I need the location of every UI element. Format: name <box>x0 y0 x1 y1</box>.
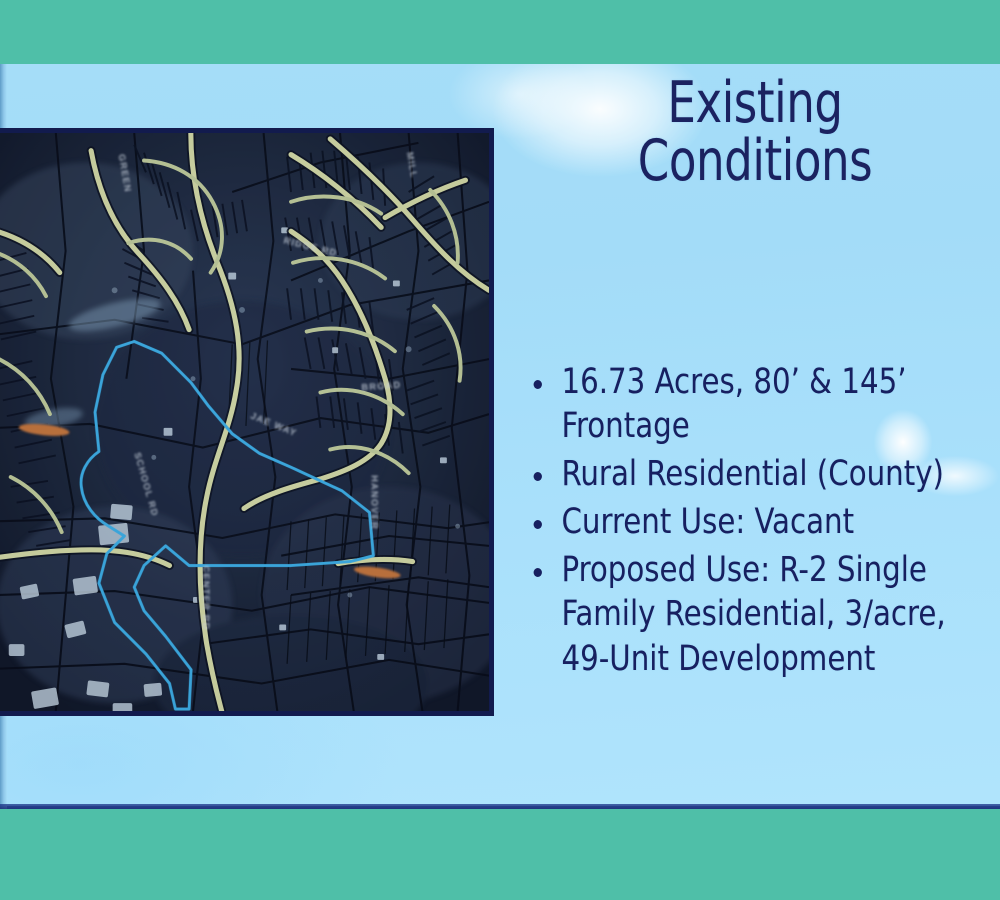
list-item: Rural Residential (County) <box>528 452 958 496</box>
presentation-slide: RIDGE RD BROAD JAE WAY SCHOOL RD CENTER … <box>0 64 1000 809</box>
photographed-slide-frame: RIDGE RD BROAD JAE WAY SCHOOL RD CENTER … <box>0 0 1000 900</box>
bullet-dot-icon <box>534 520 542 529</box>
aerial-map-image: RIDGE RD BROAD JAE WAY SCHOOL RD CENTER … <box>0 128 494 716</box>
slide-bottom-edge <box>0 804 1000 809</box>
bullet-dot-icon <box>534 380 542 389</box>
map-graphics: RIDGE RD BROAD JAE WAY SCHOOL RD CENTER … <box>0 133 489 711</box>
list-item: Proposed Use: R-2 Single Family Resident… <box>528 548 958 680</box>
title-line-1: Existing <box>548 74 962 132</box>
list-item: 16.73 Acres, 80’ & 145’ Frontage <box>528 360 958 448</box>
list-item-label: Rural Residential (County) <box>561 452 957 496</box>
list-item-label: Proposed Use: R-2 Single Family Resident… <box>561 548 957 680</box>
bullet-dot-icon <box>534 472 542 481</box>
bullet-list: 16.73 Acres, 80’ & 145’ Frontage Rural R… <box>528 360 990 685</box>
map-canvas: RIDGE RD BROAD JAE WAY SCHOOL RD CENTER … <box>0 133 489 711</box>
bullet-dot-icon <box>534 568 542 577</box>
list-item: Current Use: Vacant <box>528 500 958 544</box>
title-line-2: Conditions <box>548 132 962 190</box>
list-item-label: Current Use: Vacant <box>561 500 957 544</box>
page-title: Existing Conditions <box>548 74 962 190</box>
list-item-label: 16.73 Acres, 80’ & 145’ Frontage <box>561 360 957 448</box>
